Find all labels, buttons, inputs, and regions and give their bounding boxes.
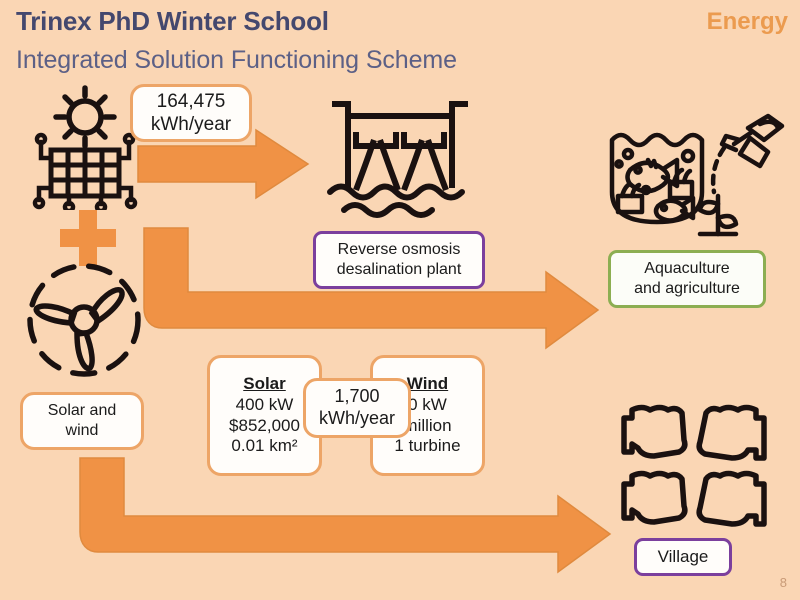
dam-desalination-icon <box>322 96 478 222</box>
desalination-line2: desalination plant <box>337 260 462 280</box>
aquaculture-line1: Aquaculture <box>644 259 729 279</box>
solar-output-line2: kWh/year <box>151 113 231 136</box>
village-line1: Village <box>658 547 709 568</box>
solar-output-callout: 164,475 kWh/year <box>130 84 252 142</box>
solar-specs-line3: 0.01 km² <box>231 436 297 457</box>
page-subtitle: Integrated Solution Functioning Scheme <box>16 46 457 75</box>
solar-output-line1: 164,475 <box>157 90 226 113</box>
arrow-source-to-village <box>76 452 616 562</box>
solar-specs-line1: 400 kW <box>236 395 294 416</box>
source-label-line1: Solar and <box>48 401 117 421</box>
page-title: Trinex PhD Winter School <box>16 6 329 37</box>
water-output-line2: kWh/year <box>319 408 395 430</box>
desalination-line1: Reverse osmosis <box>338 240 461 260</box>
wind-turbine-icon <box>22 258 146 382</box>
water-output-callout: 1,700 kWh/year <box>303 378 411 438</box>
wind-specs-heading: Wind <box>407 374 448 395</box>
solar-specs-heading: Solar <box>243 374 286 395</box>
aquaculture-line2: and agriculture <box>634 279 740 299</box>
wind-specs-line3: 1 turbine <box>394 436 460 457</box>
aquaculture-callout: Aquaculture and agriculture <box>608 250 766 308</box>
four-hands-community-icon <box>618 400 770 530</box>
village-callout: Village <box>634 538 732 576</box>
wind-specs-line1: 0 kW <box>408 395 447 416</box>
water-output-line1: 1,700 <box>334 386 379 408</box>
source-label-line2: wind <box>66 421 99 441</box>
section-tag: Energy <box>707 8 788 36</box>
fish-tank-watering-can-icon <box>600 104 786 240</box>
solar-specs-line2: $852,000 <box>229 416 300 437</box>
source-label-callout: Solar and wind <box>20 392 144 450</box>
page-number: 8 <box>780 575 787 590</box>
desalination-callout: Reverse osmosis desalination plant <box>313 231 485 289</box>
slide-canvas: Trinex PhD Winter School Integrated Solu… <box>0 0 800 600</box>
